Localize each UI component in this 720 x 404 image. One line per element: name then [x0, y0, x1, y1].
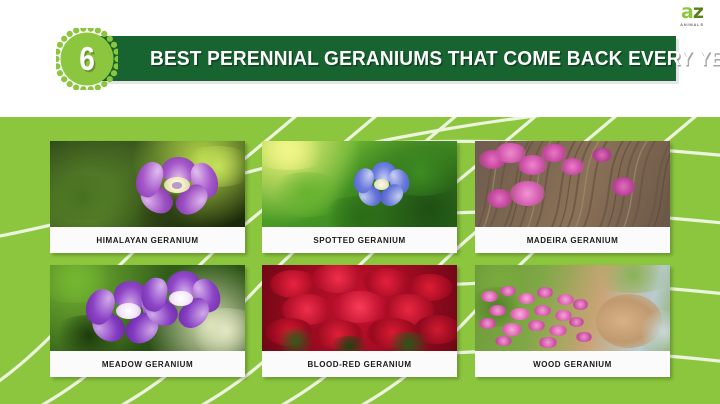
- card-wood-geranium[interactable]: WOOD GERANIUM: [475, 265, 670, 377]
- madeira-geranium-photo: [475, 141, 670, 227]
- logo-wordmark: az: [672, 3, 712, 22]
- card-caption: WOOD GERANIUM: [475, 351, 670, 377]
- rank-badge: 6: [56, 28, 118, 90]
- body-zone: HIMALAYAN GERANIUM: [0, 117, 720, 404]
- photo-background: [262, 141, 457, 227]
- title-bar: BEST PERENNIAL GERANIUMS THAT COME BACK …: [95, 36, 676, 81]
- photo-background: [475, 265, 670, 351]
- card-caption: HIMALAYAN GERANIUM: [50, 227, 245, 253]
- card-madeira-geranium[interactable]: MADEIRA GERANIUM: [475, 141, 670, 253]
- photo-background: [50, 265, 245, 351]
- spotted-geranium-photo: [262, 141, 457, 227]
- meadow-geranium-photo: [50, 265, 245, 351]
- photo-background: [50, 141, 245, 227]
- card-caption: SPOTTED GERANIUM: [262, 227, 457, 253]
- header-zone: az ANIMALS BEST PERENNIAL GERANIUMS THAT…: [0, 0, 720, 117]
- card-blood-red-geranium[interactable]: BLOOD-RED GERANIUM: [262, 265, 457, 377]
- photo-background: [475, 141, 670, 227]
- rank-number: 6: [61, 28, 114, 90]
- card-spotted-geranium[interactable]: SPOTTED GERANIUM: [262, 141, 457, 253]
- infographic-canvas: az ANIMALS BEST PERENNIAL GERANIUMS THAT…: [0, 0, 720, 404]
- logo-subtitle: ANIMALS: [672, 23, 712, 27]
- card-meadow-geranium[interactable]: MEADOW GERANIUM: [50, 265, 245, 377]
- logo-letter-a: a: [681, 1, 693, 23]
- wood-geranium-photo: [475, 265, 670, 351]
- photo-background: [262, 265, 457, 351]
- card-caption: BLOOD-RED GERANIUM: [262, 351, 457, 377]
- az-animals-logo[interactable]: az ANIMALS: [672, 3, 712, 29]
- blood-red-geranium-photo: [262, 265, 457, 351]
- card-caption: MADEIRA GERANIUM: [475, 227, 670, 253]
- himalayan-geranium-photo: [50, 141, 245, 227]
- card-himalayan-geranium[interactable]: HIMALAYAN GERANIUM: [50, 141, 245, 253]
- logo-letter-z: z: [693, 1, 703, 23]
- card-caption: MEADOW GERANIUM: [50, 351, 245, 377]
- page-title: BEST PERENNIAL GERANIUMS THAT COME BACK …: [150, 36, 630, 81]
